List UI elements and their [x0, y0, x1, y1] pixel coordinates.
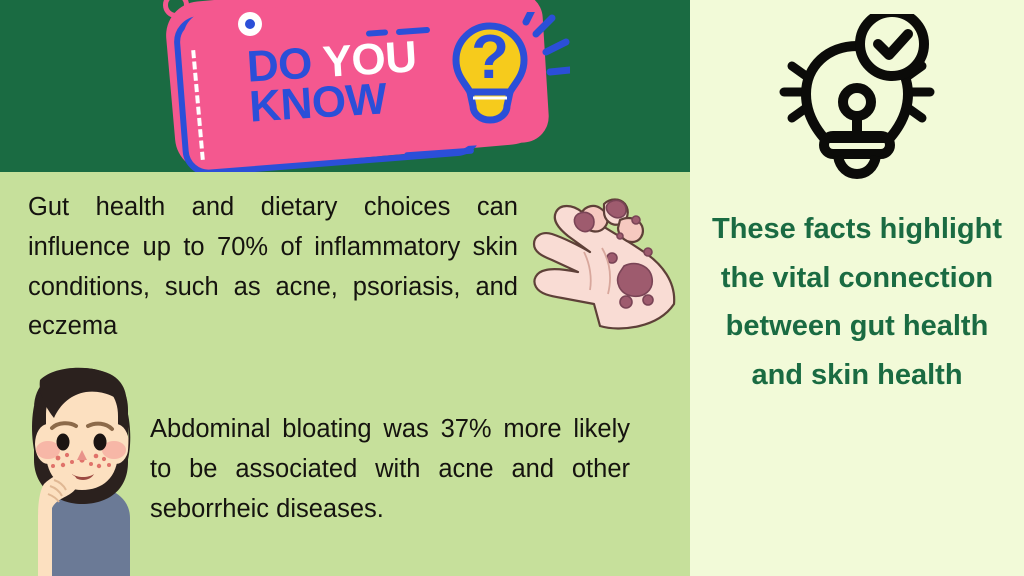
fact-block-one: Gut health and dietary choices can influ…: [28, 188, 518, 347]
worried-girl-with-acne-illustration: [18, 366, 144, 576]
question-mark-lightbulb-icon: ?: [440, 12, 570, 152]
lightbulb-check-icon: [762, 14, 952, 182]
fact-one-text: Gut health and dietary choices can influ…: [28, 188, 518, 347]
decorative-dot-icon: [238, 12, 262, 36]
infographic-page: DO YOU KNOW ?: [0, 0, 1024, 576]
fact-two-text: Abdominal bloating was 37% more likely t…: [150, 410, 630, 529]
fact-block-two: Abdominal bloating was 37% more likely t…: [150, 410, 630, 529]
conclusion-text-block: These facts highlight the vital connecti…: [700, 205, 1014, 400]
header-banner: DO YOU KNOW ?: [0, 0, 690, 172]
svg-text:?: ?: [471, 23, 509, 92]
conclusion-text: These facts highlight the vital connecti…: [700, 205, 1014, 400]
left-content-column: DO YOU KNOW ?: [0, 0, 690, 576]
headline-word-know: KNOW: [248, 75, 388, 132]
hand-with-skin-lesions-illustration: [524, 186, 690, 334]
conclusion-panel: These facts highlight the vital connecti…: [690, 0, 1024, 576]
